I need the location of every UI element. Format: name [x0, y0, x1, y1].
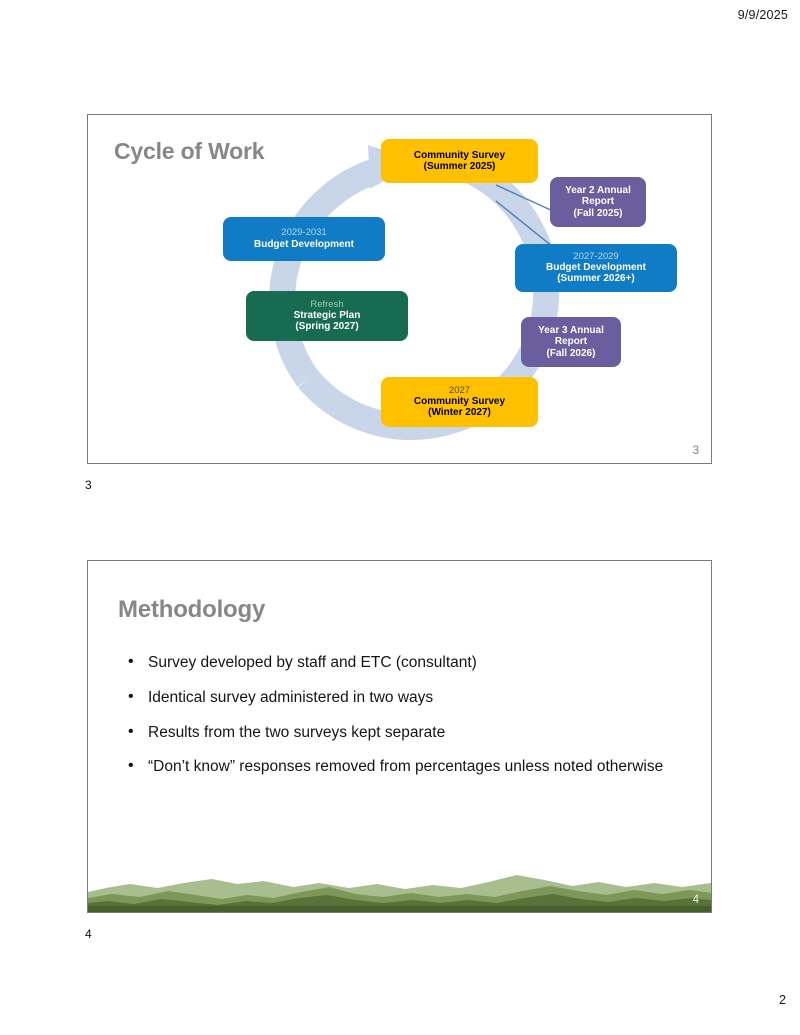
node-line-2: (Summer 2026+) [557, 273, 635, 284]
cycle-node-budget-development-2027-2029[interactable]: 2027-2029 Budget Development (Summer 202… [515, 244, 677, 292]
node-line-2: Report [555, 336, 587, 347]
node-line-2: (Spring 2027) [295, 321, 358, 332]
slide-page-number: 4 [693, 894, 699, 906]
list-item: “Don’t know” responses removed from perc… [120, 757, 680, 777]
node-line-2: (Winter 2027) [428, 407, 491, 418]
cycle-node-year-2-annual-report[interactable]: Year 2 Annual Report (Fall 2025) [550, 177, 646, 227]
methodology-bullet-list: Survey developed by staff and ETC (consu… [120, 653, 680, 792]
list-item: Identical survey administered in two way… [120, 688, 680, 708]
node-line-2: (Summer 2025) [424, 161, 496, 172]
cycle-node-budget-development-2029-2031[interactable]: 2029-2031 Budget Development [223, 217, 385, 261]
node-line-3: (Fall 2026) [547, 348, 596, 359]
node-line-1: Strategic Plan [294, 310, 361, 321]
slide-caption-4: 4 [85, 927, 92, 941]
cycle-node-strategic-plan-refresh[interactable]: Refresh Strategic Plan (Spring 2027) [246, 291, 408, 341]
cycle-diagram: Community Survey (Summer 2025) Year 2 An… [88, 115, 711, 463]
node-sub-label: 2029-2031 [281, 228, 326, 239]
slide-cycle-of-work[interactable]: Cycle of Work Community Survey (Summer 2… [87, 114, 712, 464]
slide-methodology[interactable]: Methodology Survey developed by staff an… [87, 560, 712, 913]
node-line-2: Report [582, 196, 614, 207]
node-line-1: Year 3 Annual [538, 325, 604, 336]
cycle-node-community-survey-2025[interactable]: Community Survey (Summer 2025) [381, 139, 538, 183]
cycle-node-year-3-annual-report[interactable]: Year 3 Annual Report (Fall 2026) [521, 317, 621, 367]
list-item: Survey developed by staff and ETC (consu… [120, 653, 680, 673]
node-line-1: Community Survey [414, 150, 505, 161]
node-line-3: (Fall 2025) [574, 208, 623, 219]
node-line-1: Year 2 Annual [565, 185, 631, 196]
slide-caption-3: 3 [85, 478, 92, 492]
node-sub-label: 2027 [449, 386, 470, 397]
node-line-1: Budget Development [546, 262, 646, 273]
list-item: Results from the two surveys kept separa… [120, 723, 680, 743]
node-line-1: Community Survey [414, 396, 505, 407]
node-line-1: Budget Development [254, 239, 354, 250]
green-hills-illustration [88, 870, 711, 912]
cycle-node-community-survey-2027[interactable]: 2027 Community Survey (Winter 2027) [381, 377, 538, 427]
node-sub-label: Refresh [310, 300, 343, 311]
slide-title-methodology: Methodology [118, 597, 265, 624]
document-date: 9/9/2025 [738, 8, 788, 22]
node-sub-label: 2027-2029 [573, 252, 618, 263]
document-page-number: 2 [779, 993, 786, 1007]
slide-page-number: 3 [693, 445, 699, 457]
